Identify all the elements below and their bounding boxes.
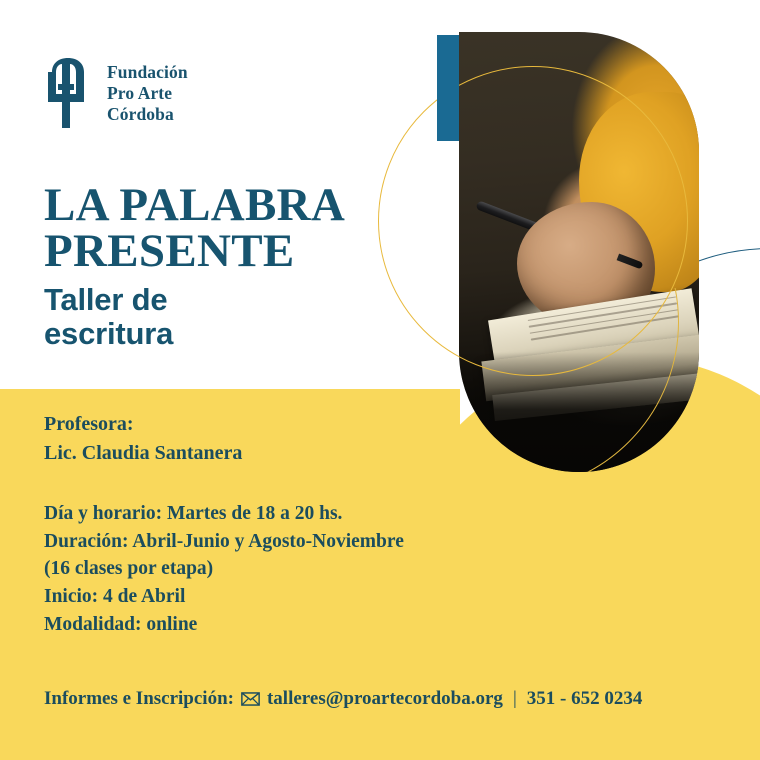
contact-footer: Informes e Inscripción: talleres@proarte…: [44, 688, 642, 710]
envelope-icon: [241, 692, 260, 706]
teacher-name: Lic. Claudia Santanera: [44, 439, 242, 468]
subheadline-line-2: escritura: [44, 317, 173, 351]
fundacion-pro-arte-cordoba-logo-icon: [48, 58, 94, 128]
brand-logo: Fundación Pro Arte Córdoba: [48, 58, 188, 128]
detail-duration: Duración: Abril-Junio y Agosto-Noviembre: [44, 528, 404, 556]
detail-schedule: Día y horario: Martes de 18 a 20 hs.: [44, 500, 404, 528]
writing-hand-photo: [459, 32, 699, 472]
logo-line-3: Córdoba: [107, 104, 188, 125]
poster-headline: LA PALABRA PRESENTE: [44, 183, 345, 274]
detail-start: Inicio: 4 de Abril: [44, 583, 404, 611]
logo-line-1: Fundación: [107, 62, 188, 83]
detail-modality: Modalidad: online: [44, 611, 404, 639]
detail-duration-note: (16 clases por etapa): [44, 555, 404, 583]
logo-line-2: Pro Arte: [107, 83, 188, 104]
contact-email[interactable]: talleres@proartecordoba.org: [267, 688, 503, 710]
poster-subheadline: Taller de escritura: [44, 283, 173, 351]
logo-text: Fundación Pro Arte Córdoba: [107, 62, 188, 125]
subheadline-line-1: Taller de: [44, 283, 173, 317]
blue-accent-tab: [437, 35, 461, 141]
teacher-label: Profesora:: [44, 410, 242, 439]
course-details: Día y horario: Martes de 18 a 20 hs. Dur…: [44, 500, 404, 638]
poster: Fundación Pro Arte Córdoba LA PALABRA PR…: [0, 0, 760, 760]
teacher-block: Profesora: Lic. Claudia Santanera: [44, 410, 242, 468]
contact-label: Informes e Inscripción:: [44, 688, 234, 710]
headline-line-1: LA PALABRA: [44, 183, 345, 229]
contact-phone[interactable]: 351 - 652 0234: [527, 688, 643, 710]
headline-line-2: PRESENTE: [44, 229, 345, 275]
contact-separator: |: [510, 688, 520, 710]
